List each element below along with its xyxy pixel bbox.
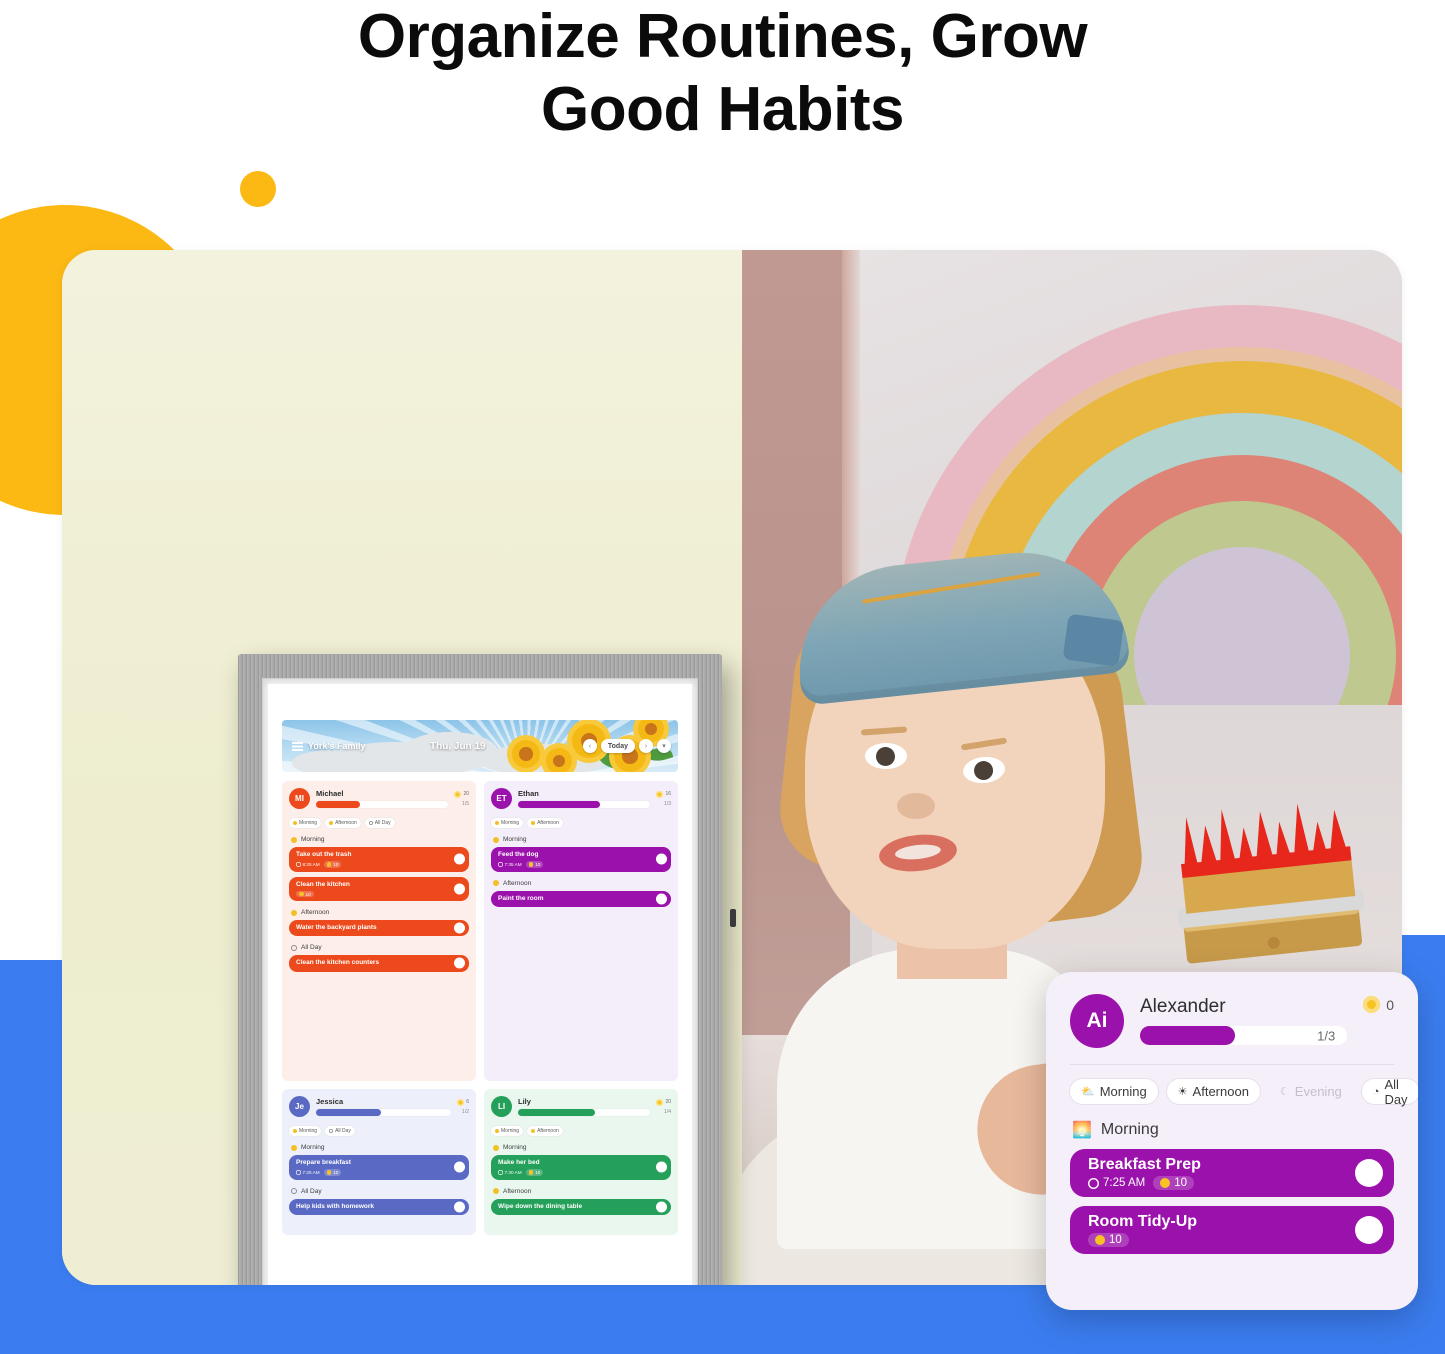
time-period-filters: ⛅ Morning☀ Afternoon☾ Evening◔ All Day	[1070, 1079, 1394, 1104]
period-chip-afternoon[interactable]: Afternoon	[527, 818, 563, 828]
sun-icon	[329, 821, 333, 825]
sun-dot-decoration	[240, 171, 276, 207]
clock-icon	[329, 1129, 333, 1133]
task-title: Water the backyard plants	[296, 924, 447, 932]
coin-count: 6	[466, 1099, 469, 1105]
period-chip-afternoon[interactable]: Afternoon	[325, 818, 361, 828]
clock-icon	[296, 1170, 301, 1175]
detail-card-body: Alexander 1/3	[1140, 994, 1347, 1045]
task-title: Prepare breakfast	[296, 1159, 447, 1167]
task-item[interactable]: Room Tidy-Up 10	[1070, 1206, 1394, 1254]
task-item[interactable]: Feed the dog 7:35 AM 10	[491, 847, 671, 872]
member-header: MI Michael 20 1/5	[289, 788, 469, 809]
chip-label: Afternoon	[537, 820, 559, 826]
task-title: Paint the room	[498, 895, 649, 903]
task-points: 10	[324, 1169, 342, 1176]
coin-score: 16 1/3	[656, 791, 671, 807]
headline-line-1: Organize Routines, Grow	[0, 4, 1445, 69]
task-meta: 10	[296, 891, 447, 898]
task-toggle[interactable]	[1355, 1159, 1383, 1187]
coin-icon	[1160, 1178, 1170, 1188]
coin-icon	[457, 1099, 464, 1106]
clock-icon: ◔	[1373, 1086, 1380, 1098]
section-title: Morning	[503, 836, 526, 843]
sun-icon	[531, 1129, 535, 1133]
member-name: Alexander	[1140, 996, 1347, 1018]
coin-icon	[299, 892, 304, 897]
period-chip-morning[interactable]: Morning	[491, 1126, 523, 1136]
coin-icon	[1095, 1235, 1105, 1245]
task-meta: 7:25 AM 10	[296, 1169, 447, 1176]
clock-icon	[291, 945, 297, 951]
task-points: 10	[324, 861, 342, 868]
period-chip-morning[interactable]: ⛅ Morning	[1070, 1079, 1158, 1104]
task-time: 7:30 AM	[498, 1170, 522, 1175]
period-chip-all-day[interactable]: ◔ All Day	[1362, 1079, 1418, 1104]
member-card-grid: MI Michael 20 1/5 Morning Afternoon All …	[282, 781, 678, 1235]
progress-bar	[518, 801, 650, 808]
chip-label: All Day	[335, 1128, 351, 1134]
member-info: Ethan	[518, 789, 650, 808]
task-meta: 7:25 AM 10	[1088, 1176, 1340, 1190]
period-chip-afternoon[interactable]: Afternoon	[527, 1126, 563, 1136]
sun-icon	[291, 910, 297, 916]
task-meta: 7:35 AM 10	[498, 861, 649, 868]
clock-icon	[498, 1170, 503, 1175]
section-title: Morning	[301, 1144, 324, 1151]
avatar: Je	[289, 1096, 310, 1117]
section-header: 🌅 Morning	[1072, 1120, 1394, 1140]
member-header: Je Jessica 6 1/2	[289, 1096, 469, 1117]
sunrise-icon	[495, 821, 499, 825]
cap-stitch	[862, 572, 1040, 604]
task-time: 7:35 AM	[498, 862, 522, 867]
app-header-bar: York's Family Thu, Jun 19 ‹ Today › ▾	[282, 720, 678, 772]
time-period-filters: Morning Afternoon	[491, 1126, 671, 1136]
coin-icon	[656, 1099, 663, 1106]
section-label-morning: Morning	[493, 1144, 671, 1151]
section-title: Afternoon	[301, 909, 329, 916]
chip-label: Evening	[1295, 1084, 1342, 1099]
time-period-filters: Morning All Day	[289, 1126, 469, 1136]
period-chip-morning[interactable]: Morning	[289, 818, 321, 828]
chip-label: Morning	[501, 820, 519, 826]
section-label-morning: Morning	[291, 1144, 469, 1151]
routine-app: York's Family Thu, Jun 19 ‹ Today › ▾	[282, 720, 678, 1285]
period-chip-morning[interactable]: Morning	[289, 1126, 321, 1136]
sun-icon	[493, 1188, 499, 1194]
section-label-afternoon: Afternoon	[493, 1188, 671, 1195]
coin-icon	[454, 791, 461, 798]
sunrise-icon	[291, 1145, 297, 1151]
task-toggle[interactable]	[656, 854, 667, 865]
task-item[interactable]: Help kids with homework	[289, 1199, 469, 1215]
member-card-lily[interactable]: LI Lily 20 1/4 Morning Afternoon Morning	[484, 1089, 678, 1235]
frame-bevel: York's Family Thu, Jun 19 ‹ Today › ▾	[262, 678, 698, 1285]
period-chip-all-day[interactable]: All Day	[365, 818, 395, 828]
sun-icon: ☀	[1178, 1085, 1188, 1098]
coin-count: 16	[665, 791, 671, 797]
task-item[interactable]: Clean the kitchen 10	[289, 877, 469, 902]
section-label-morning: Morning	[493, 836, 671, 843]
task-item[interactable]: Clean the kitchen counters	[289, 955, 469, 971]
task-item[interactable]: Wipe down the dining table	[491, 1199, 671, 1215]
member-card-michael[interactable]: MI Michael 20 1/5 Morning Afternoon All …	[282, 781, 476, 1081]
chip-label: Afternoon	[1193, 1084, 1249, 1099]
chip-label: Morning	[1100, 1084, 1147, 1099]
chip-label: All Day	[1384, 1077, 1407, 1107]
task-toggle[interactable]	[1355, 1216, 1383, 1244]
time-period-filters: Morning Afternoon All Day	[289, 818, 469, 828]
task-points: 10	[526, 861, 544, 868]
time-period-filters: Morning Afternoon	[491, 818, 671, 828]
task-toggle[interactable]	[454, 854, 465, 865]
sunrise-icon: ⛅	[1081, 1085, 1095, 1098]
section-label-all-day: All Day	[291, 1188, 469, 1195]
period-chip-evening[interactable]: ☾ Evening	[1269, 1079, 1353, 1104]
member-name: Jessica	[316, 1097, 451, 1106]
chip-label: Afternoon	[335, 820, 357, 826]
section-title: Morning	[503, 1144, 526, 1151]
sun-icon	[531, 821, 535, 825]
family-name: York's Family	[308, 741, 366, 751]
task-points: 10	[526, 1169, 544, 1176]
chip-label: All Day	[375, 820, 391, 826]
period-chip-all-day[interactable]: All Day	[325, 1126, 355, 1136]
picture-frame: York's Family Thu, Jun 19 ‹ Today › ▾	[238, 654, 722, 1285]
progress-bar: 1/3	[1140, 1026, 1347, 1045]
period-chip-afternoon[interactable]: ☀ Afternoon	[1167, 1079, 1260, 1104]
task-toggle[interactable]	[454, 1162, 465, 1173]
section-label-morning: Morning	[291, 836, 469, 843]
coin-score: 20 1/5	[454, 791, 469, 807]
member-card-jessica[interactable]: Je Jessica 6 1/2 Morning All Day Morning	[282, 1089, 476, 1235]
moon-icon: ☾	[1280, 1085, 1290, 1098]
sun-icon	[493, 880, 499, 886]
avatar: ET	[491, 788, 512, 809]
task-meta: 7:30 AM 10	[498, 1169, 649, 1176]
member-info: Jessica	[316, 1097, 451, 1116]
coin-count: 20	[665, 1099, 671, 1105]
progress-fraction: 1/5	[454, 801, 469, 807]
sunrise-icon	[293, 1129, 297, 1133]
clock-icon	[498, 862, 503, 867]
coin-count: 20	[463, 791, 469, 797]
child-nose	[897, 793, 935, 819]
member-info: Michael	[316, 789, 448, 808]
task-title: Make her bed	[498, 1159, 649, 1167]
coin-icon	[529, 1170, 534, 1175]
task-toggle[interactable]	[656, 893, 667, 904]
clock-icon	[369, 821, 373, 825]
task-points: 10	[296, 891, 314, 898]
member-header: ET Ethan 16 1/3	[491, 788, 671, 809]
task-toggle[interactable]	[656, 1162, 667, 1173]
progress-fraction: 1/3	[656, 801, 671, 807]
progress-fraction: 1/3	[1317, 1028, 1335, 1043]
member-detail-card: Ai Alexander 1/3 0 ⛅ Morning☀ Af	[1046, 972, 1418, 1310]
chip-label: Afternoon	[537, 1128, 559, 1134]
task-meta: 10	[1088, 1233, 1340, 1247]
progress-fill	[316, 801, 360, 808]
progress-fraction: 1/2	[457, 1109, 469, 1115]
detail-task-list: Breakfast Prep 7:25 AM 10 Room Tidy-Up 1…	[1070, 1149, 1394, 1254]
coin-icon	[1363, 996, 1380, 1013]
progress-bar	[518, 1109, 650, 1116]
task-time: 7:25 AM	[1088, 1177, 1145, 1189]
prev-day-button[interactable]: ‹	[583, 739, 597, 753]
section-label-afternoon: Afternoon	[291, 909, 469, 916]
paintbrush-icon	[1154, 803, 1384, 973]
section-title: Morning	[301, 836, 324, 843]
progress-fill	[1140, 1026, 1235, 1045]
task-toggle[interactable]	[454, 923, 465, 934]
section-title: All Day	[301, 944, 322, 951]
child-eye-left	[865, 743, 907, 769]
progress-fill	[316, 1109, 381, 1116]
coin-score: 6 1/2	[457, 1099, 469, 1115]
task-item[interactable]: Paint the room	[491, 891, 671, 907]
today-button[interactable]: Today	[601, 739, 635, 753]
clock-icon	[291, 1188, 297, 1194]
section-label: Morning	[1101, 1121, 1159, 1139]
task-title: Clean the kitchen counters	[296, 959, 447, 967]
sunrise-icon	[493, 1145, 499, 1151]
divider	[1070, 1064, 1394, 1065]
sunrise-icon	[291, 837, 297, 843]
task-item[interactable]: Take out the trash 8:25 AM 10	[289, 847, 469, 872]
promo-page: Organize Routines, Grow Good Habits	[0, 0, 1445, 1354]
section-label-all-day: All Day	[291, 944, 469, 951]
task-item[interactable]: Water the backyard plants	[289, 920, 469, 936]
task-title: Help kids with homework	[296, 1203, 447, 1211]
task-title: Breakfast Prep	[1088, 1156, 1340, 1174]
task-title: Clean the kitchen	[296, 881, 447, 889]
task-points: 10	[1088, 1233, 1129, 1247]
cap-buckle	[1062, 613, 1124, 666]
member-name: Lily	[518, 1097, 650, 1106]
chip-label: Morning	[299, 820, 317, 826]
date-nav-group: ‹ Today › ▾	[583, 739, 671, 753]
clock-icon	[1088, 1178, 1099, 1189]
section-label-afternoon: Afternoon	[493, 880, 671, 887]
coin-score: 0	[1363, 994, 1394, 1013]
coin-score: 20 1/4	[656, 1099, 671, 1115]
filter-icon[interactable]: ▾	[657, 739, 671, 753]
progress-fraction: 1/4	[656, 1109, 671, 1115]
sunrise-icon	[495, 1129, 499, 1133]
task-title: Room Tidy-Up	[1088, 1213, 1340, 1231]
task-toggle[interactable]	[656, 1201, 667, 1212]
page-title: Organize Routines, Grow Good Habits	[0, 0, 1445, 142]
power-button[interactable]	[730, 909, 736, 927]
avatar: MI	[289, 788, 310, 809]
section-title: Afternoon	[503, 880, 531, 887]
next-day-button[interactable]: ›	[639, 739, 653, 753]
task-toggle[interactable]	[454, 958, 465, 969]
task-title: Wipe down the dining table	[498, 1203, 649, 1211]
task-toggle[interactable]	[454, 883, 465, 894]
current-date: Thu, Jun 19	[430, 741, 486, 752]
member-name: Michael	[316, 789, 448, 798]
coin-icon	[327, 1170, 332, 1175]
coin-icon	[656, 791, 663, 798]
detail-card-header: Ai Alexander 1/3 0	[1070, 994, 1394, 1048]
task-time: 8:25 AM	[296, 862, 320, 867]
progress-fill	[518, 801, 600, 808]
progress-row: 1/3	[1140, 1026, 1347, 1045]
member-header: LI Lily 20 1/4	[491, 1096, 671, 1117]
task-meta: 8:25 AM 10	[296, 861, 447, 868]
section-title: Afternoon	[503, 1188, 531, 1195]
chip-label: Morning	[299, 1128, 317, 1134]
coin-icon	[529, 862, 534, 867]
progress-fill	[518, 1109, 595, 1116]
task-item[interactable]: Prepare breakfast 7:25 AM 10	[289, 1155, 469, 1180]
chip-label: Morning	[501, 1128, 519, 1134]
task-title: Feed the dog	[498, 851, 649, 859]
avatar: Ai	[1070, 994, 1124, 1048]
tablet-screen: York's Family Thu, Jun 19 ‹ Today › ▾	[268, 684, 692, 1285]
task-time: 7:25 AM	[296, 1170, 320, 1175]
coin-icon	[327, 862, 332, 867]
avatar: LI	[491, 1096, 512, 1117]
section-title: All Day	[301, 1188, 322, 1195]
clock-icon	[296, 862, 301, 867]
task-item[interactable]: Breakfast Prep 7:25 AM 10	[1070, 1149, 1394, 1197]
headline-line-2: Good Habits	[0, 77, 1445, 142]
progress-bar	[316, 801, 448, 808]
period-chip-morning[interactable]: Morning	[491, 818, 523, 828]
sunrise-icon	[293, 821, 297, 825]
member-card-ethan[interactable]: ET Ethan 16 1/3 Morning Afternoon Mornin…	[484, 781, 678, 1081]
task-toggle[interactable]	[454, 1201, 465, 1212]
task-points: 10	[1153, 1176, 1194, 1190]
task-item[interactable]: Make her bed 7:30 AM 10	[491, 1155, 671, 1180]
task-title: Take out the trash	[296, 851, 447, 859]
progress-bar	[316, 1109, 451, 1116]
sunrise-icon: 🌅	[1072, 1120, 1092, 1140]
sunrise-icon	[493, 837, 499, 843]
member-info: Lily	[518, 1097, 650, 1116]
hamburger-icon[interactable]	[292, 742, 303, 751]
coin-count: 0	[1386, 997, 1394, 1013]
member-name: Ethan	[518, 789, 650, 798]
